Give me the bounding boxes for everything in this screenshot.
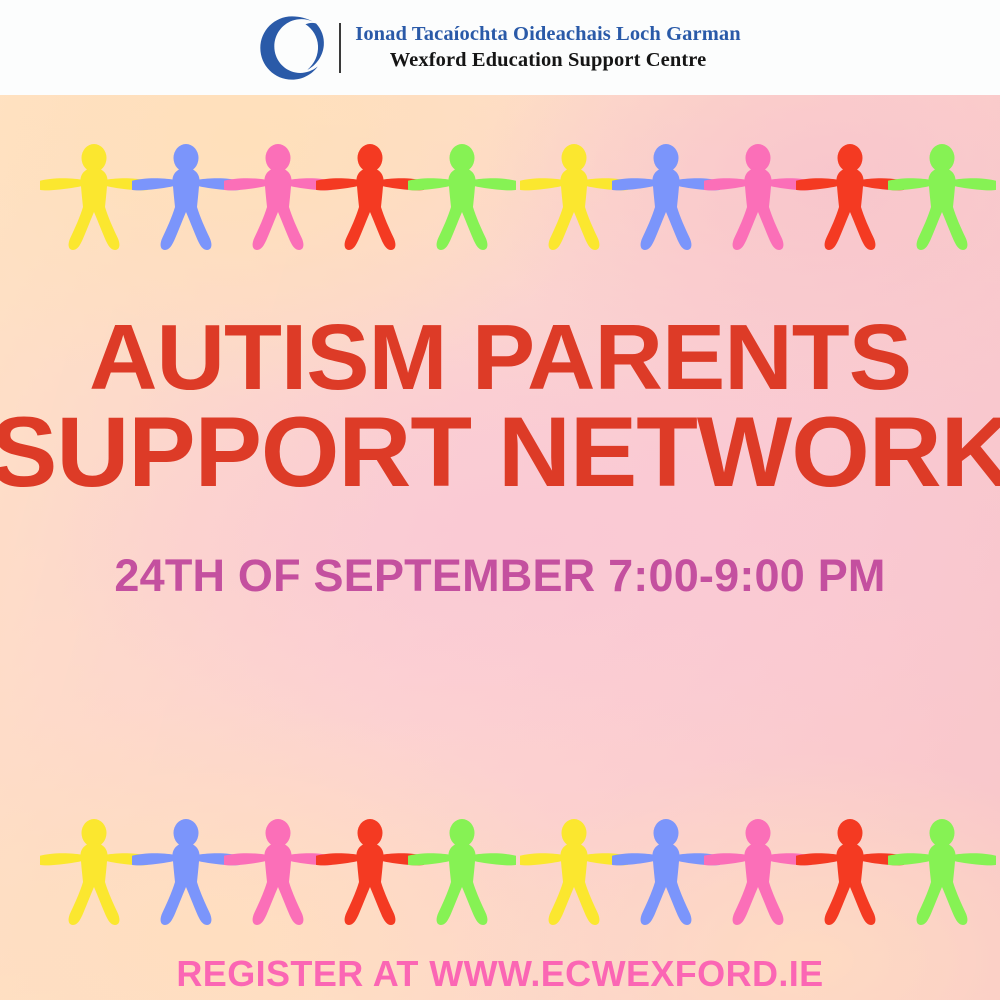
- poster-canvas: Ionad Tacaíochta Oideachais Loch Garman …: [0, 0, 1000, 1000]
- wesc-crescent-logo-icon: [259, 15, 325, 81]
- paper-doll-chain-bottom: [0, 815, 1000, 930]
- paper-doll-group-bottom-right: [520, 815, 996, 927]
- paper-doll-group-bottom-left: [40, 815, 516, 927]
- logo-text-block: Ionad Tacaíochta Oideachais Loch Garman …: [355, 23, 740, 72]
- poster-headline: AUTISM PARENTS SUPPORT NETWORK: [0, 312, 1000, 500]
- paper-doll-group-top-right: [520, 140, 996, 252]
- event-date-time: 24TH OF SEPTEMBER 7:00-9:00 PM: [0, 552, 1000, 599]
- header-logo-band: Ionad Tacaíochta Oideachais Loch Garman …: [0, 0, 1000, 95]
- paper-doll-figure-green: [408, 815, 516, 927]
- logo-irish-name: Ionad Tacaíochta Oideachais Loch Garman: [355, 23, 740, 47]
- logo-divider: [339, 23, 341, 73]
- register-call-to-action: REGISTER AT WWW.ECWEXFORD.IE: [0, 955, 1000, 993]
- headline-line-2: SUPPORT NETWORK: [0, 403, 1000, 500]
- paper-doll-figure-green: [888, 815, 996, 927]
- headline-line-1: AUTISM PARENTS: [0, 312, 1000, 403]
- logo-lockup: Ionad Tacaíochta Oideachais Loch Garman …: [259, 15, 740, 81]
- logo-english-name: Wexford Education Support Centre: [355, 49, 740, 73]
- paper-doll-figure-green: [888, 140, 996, 252]
- paper-doll-chain-top: [0, 140, 1000, 255]
- paper-doll-group-top-left: [40, 140, 516, 252]
- paper-doll-figure-green: [408, 140, 516, 252]
